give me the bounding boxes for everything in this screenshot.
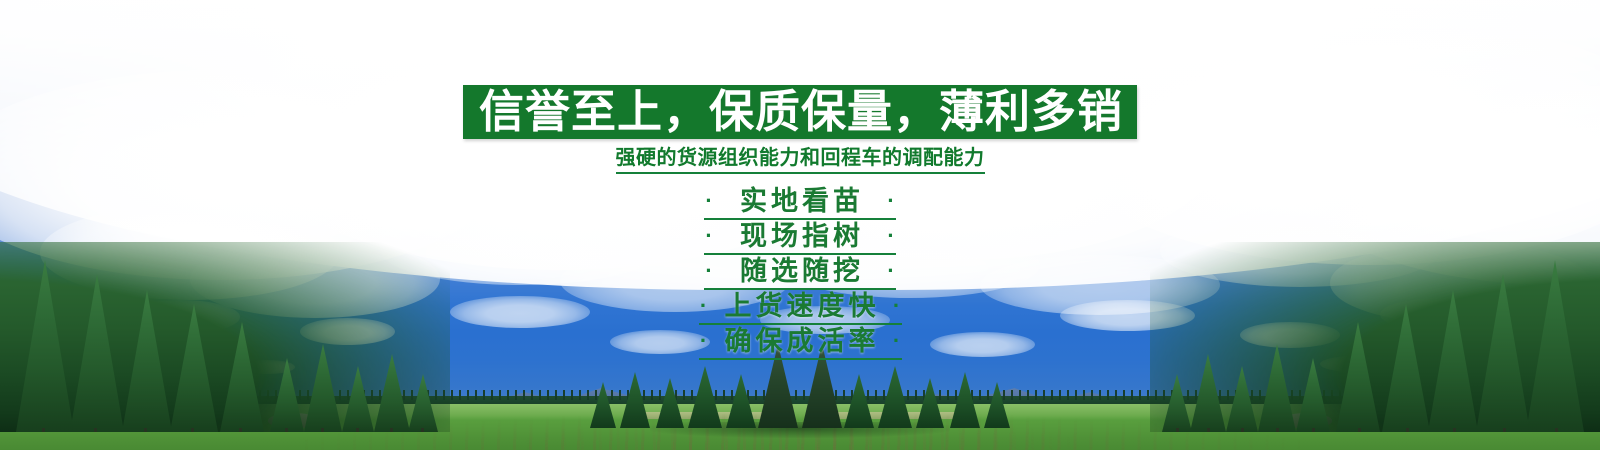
subtitle-wrapper: 强硬的货源组织能力和回程车的调配能力 [0, 139, 1600, 174]
bullet-dot-icon: · [880, 295, 914, 317]
bullet-dot-icon: · [874, 225, 908, 247]
bullet-dot-icon: · [692, 260, 726, 282]
conifer-tree [878, 366, 912, 428]
conifer-tree [844, 374, 874, 428]
conifer-tree [620, 372, 650, 428]
bullet-dot-icon: · [874, 260, 908, 282]
feature-item: · 确保成活率 · [687, 323, 914, 358]
feature-item: · 上货速度快 · [687, 288, 914, 323]
feature-label: 确保成活率 [721, 324, 880, 358]
feature-label: 随选随挖 [726, 254, 874, 288]
conifer-tree [916, 378, 944, 428]
conifer-tree [726, 374, 756, 428]
banner-headline: 信誉至上，保质保量，薄利多销 [463, 85, 1137, 139]
feature-label: 现场指树 [726, 219, 874, 253]
feature-label: 上货速度快 [721, 289, 880, 323]
feature-label: 实地看苗 [726, 184, 874, 218]
promo-banner: 信誉至上，保质保量，薄利多销 强硬的货源组织能力和回程车的调配能力 · 实地看苗… [0, 0, 1600, 450]
conifer-tree [688, 366, 722, 428]
bullet-dot-icon: · [687, 330, 721, 352]
feature-item: · 实地看苗 · [692, 183, 908, 218]
banner-content: 信誉至上，保质保量，薄利多销 强硬的货源组织能力和回程车的调配能力 · 实地看苗… [0, 0, 1600, 358]
feature-list: · 实地看苗 · · 现场指树 · · 随选随挖 · · 上货速度快 · · [0, 183, 1600, 358]
conifer-tree [656, 378, 684, 428]
bullet-dot-icon: · [687, 295, 721, 317]
headline-wrapper: 信誉至上，保质保量，薄利多销 [0, 85, 1600, 139]
conifer-tree [590, 382, 616, 428]
bullet-dot-icon: · [874, 190, 908, 212]
bullet-dot-icon: · [692, 190, 726, 212]
feature-item: · 随选随挖 · [692, 253, 908, 288]
banner-subtitle: 强硬的货源组织能力和回程车的调配能力 [616, 145, 985, 174]
conifer-tree [984, 382, 1010, 428]
bullet-dot-icon: · [880, 330, 914, 352]
conifer-tree [950, 372, 980, 428]
bullet-dot-icon: · [692, 225, 726, 247]
feature-item: · 现场指树 · [692, 218, 908, 253]
